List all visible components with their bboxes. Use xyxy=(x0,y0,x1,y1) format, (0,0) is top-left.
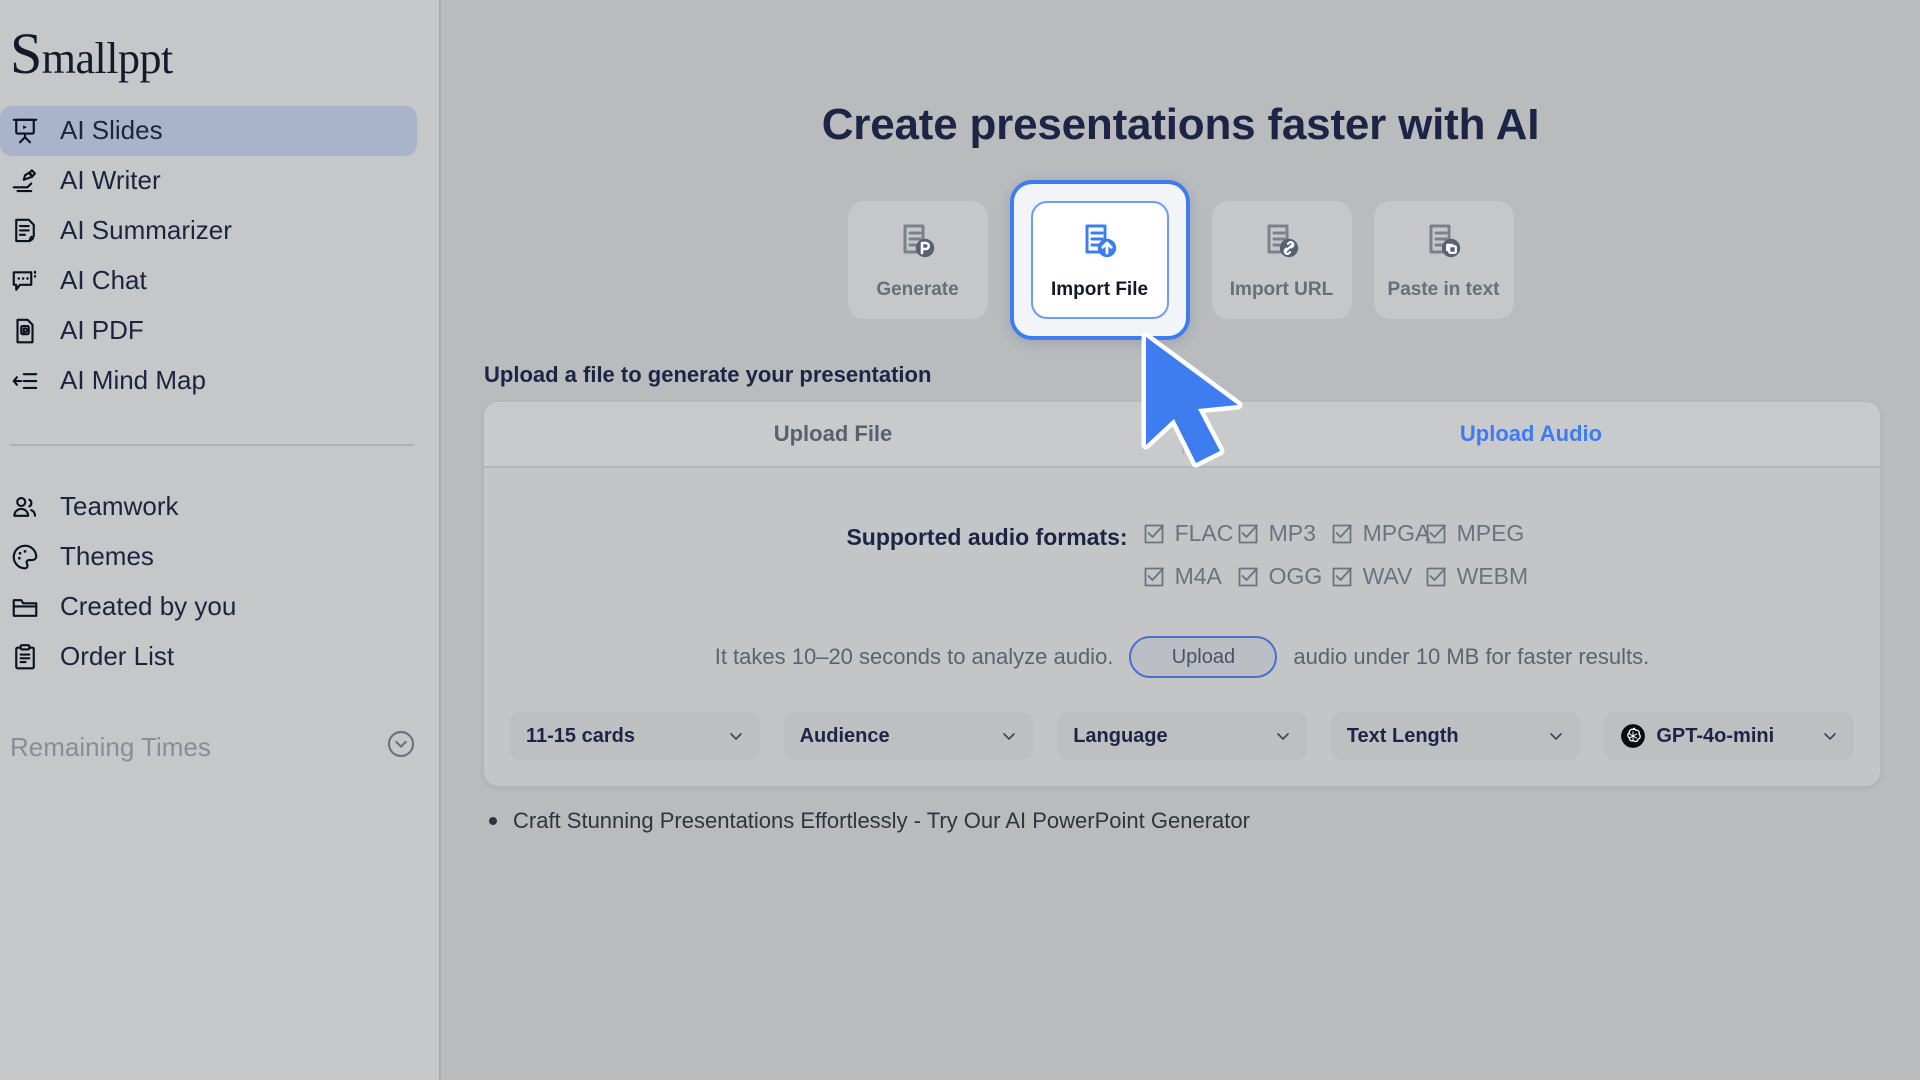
sidebar: Smallppt AI Slides xyxy=(0,0,441,1080)
upload-button[interactable]: Upload xyxy=(1129,636,1277,678)
doc-upload-icon xyxy=(1076,219,1124,267)
dropdown-value: 11-15 cards xyxy=(526,725,716,748)
tab-upload-audio[interactable]: Upload Audio xyxy=(1182,402,1880,466)
sidebar-item-label: Teamwork xyxy=(60,491,178,522)
sidebar-item-label: Order List xyxy=(60,641,174,672)
chevron-down-circle-icon[interactable] xyxy=(385,728,417,767)
footer-bullet-text[interactable]: Craft Stunning Presentations Effortlessl… xyxy=(513,808,1250,834)
brand-logo-rest: mallppt xyxy=(42,34,173,83)
format-item-mp3: MP3 xyxy=(1236,520,1330,547)
tab-label: Upload File xyxy=(774,421,893,447)
mode-card-label: Import File xyxy=(1051,279,1148,301)
mode-card-generate[interactable]: Generate xyxy=(848,201,988,319)
format-label: WEBM xyxy=(1457,563,1529,590)
doc-link-icon xyxy=(1258,219,1306,267)
mode-card-label: Import URL xyxy=(1230,279,1333,301)
supported-formats: Supported audio formats: FLAC xyxy=(484,520,1880,590)
sidebar-item-ai-chat[interactable]: AI Chat xyxy=(0,256,417,306)
upload-panel-body: Supported audio formats: FLAC xyxy=(484,468,1880,786)
document-edit-icon xyxy=(10,216,40,246)
sidebar-item-label: AI Chat xyxy=(60,265,147,296)
chevron-down-icon xyxy=(1273,726,1293,746)
checkbox-checked-icon xyxy=(1142,565,1166,589)
checkbox-checked-icon xyxy=(1236,522,1260,546)
app-root: Smallppt AI Slides xyxy=(0,0,1920,1080)
checkbox-checked-icon xyxy=(1424,565,1448,589)
sidebar-item-teamwork[interactable]: Teamwork xyxy=(0,482,417,532)
checkbox-checked-icon xyxy=(1330,522,1354,546)
supported-formats-grid: FLAC MP3 MPGA xyxy=(1142,520,1518,590)
chat-bubble-icon xyxy=(10,266,40,296)
footer-bullet-row: Craft Stunning Presentations Effortlessl… xyxy=(489,808,1920,834)
folder-icon xyxy=(10,592,40,622)
sidebar-secondary-nav: Teamwork Themes xyxy=(0,482,439,682)
dropdown-card-count[interactable]: 11-15 cards xyxy=(510,712,760,760)
upload-hint-prefix: It takes 10–20 seconds to analyze audio. xyxy=(715,644,1114,670)
sidebar-item-label: AI Slides xyxy=(60,115,163,146)
presentation-icon xyxy=(10,116,40,146)
supported-formats-label: Supported audio formats: xyxy=(846,520,1141,590)
format-label: OGG xyxy=(1269,563,1323,590)
page-title: Create presentations faster with AI xyxy=(441,100,1920,150)
dropdown-text-length[interactable]: Text Length xyxy=(1331,712,1581,760)
brand-logo[interactable]: Smallppt xyxy=(0,0,439,86)
doc-powerpoint-icon xyxy=(894,219,942,267)
pencil-write-icon xyxy=(10,166,40,196)
section-label: Upload a file to generate your presentat… xyxy=(484,362,1920,388)
format-label: M4A xyxy=(1175,563,1222,590)
format-item-mpeg: MPEG xyxy=(1424,520,1518,547)
sidebar-item-created-by-you[interactable]: Created by you xyxy=(0,582,417,632)
format-item-m4a: M4A xyxy=(1142,563,1222,590)
mode-card-paste-in-text[interactable]: Paste in text xyxy=(1374,201,1514,319)
tab-label: Upload Audio xyxy=(1460,421,1602,447)
format-item-ogg: OGG xyxy=(1236,563,1323,590)
mode-card-import-file[interactable]: Import File xyxy=(1031,201,1169,319)
sidebar-item-themes[interactable]: Themes xyxy=(0,532,417,582)
dropdown-model[interactable]: GPT-4o-mini xyxy=(1604,712,1854,760)
mode-card-import-url[interactable]: Import URL xyxy=(1212,201,1352,319)
mode-card-import-file-wrapper[interactable]: Import File xyxy=(1010,180,1190,340)
chevron-down-icon xyxy=(726,726,746,746)
sidebar-divider xyxy=(10,444,414,446)
format-label: MP3 xyxy=(1269,520,1316,547)
chevron-down-icon xyxy=(1546,726,1566,746)
main-content: Create presentations faster with AI Gene… xyxy=(441,0,1920,1080)
sidebar-item-label: Created by you xyxy=(60,591,236,622)
clipboard-icon xyxy=(10,642,40,672)
dropdown-value: GPT-4o-mini xyxy=(1656,725,1810,748)
pdf-file-icon xyxy=(10,316,40,346)
sidebar-item-label: AI PDF xyxy=(60,315,144,346)
upload-panel: Upload File Upload Audio Supported audio… xyxy=(484,402,1880,786)
users-icon xyxy=(10,492,40,522)
bullet-dot-icon xyxy=(489,817,497,825)
tab-upload-file[interactable]: Upload File xyxy=(484,402,1182,466)
upload-hint-row: It takes 10–20 seconds to analyze audio.… xyxy=(484,636,1880,678)
mode-card-row: Generate Import File xyxy=(441,180,1920,340)
format-item-webm: WEBM xyxy=(1424,563,1529,590)
sidebar-item-order-list[interactable]: Order List xyxy=(0,632,417,682)
checkbox-checked-icon xyxy=(1236,565,1260,589)
upload-hint-suffix: audio under 10 MB for faster results. xyxy=(1293,644,1649,670)
dropdown-value: Language xyxy=(1073,725,1263,748)
sidebar-primary-nav: AI Slides AI Writer xyxy=(0,106,439,406)
sidebar-item-ai-summarizer[interactable]: AI Summarizer xyxy=(0,206,417,256)
dropdown-language[interactable]: Language xyxy=(1057,712,1307,760)
remaining-times-row[interactable]: Remaining Times xyxy=(0,728,439,767)
palette-icon xyxy=(10,542,40,572)
format-item-flac: FLAC xyxy=(1142,520,1236,547)
format-label: WAV xyxy=(1363,563,1413,590)
mode-card-label: Paste in text xyxy=(1388,279,1500,301)
sidebar-item-label: Themes xyxy=(60,541,154,572)
sidebar-item-ai-pdf[interactable]: AI PDF xyxy=(0,306,417,356)
checkbox-checked-icon xyxy=(1142,522,1166,546)
openai-logo-icon xyxy=(1620,723,1646,749)
upload-tabs: Upload File Upload Audio xyxy=(484,402,1880,468)
sidebar-item-ai-slides[interactable]: AI Slides xyxy=(0,106,417,156)
format-label: FLAC xyxy=(1175,520,1234,547)
sidebar-item-ai-writer[interactable]: AI Writer xyxy=(0,156,417,206)
brand-logo-capital: S xyxy=(10,21,42,86)
sidebar-item-label: AI Mind Map xyxy=(60,365,206,396)
doc-copy-icon xyxy=(1420,219,1468,267)
mind-map-icon xyxy=(10,366,40,396)
remaining-times-label: Remaining Times xyxy=(10,732,211,763)
dropdown-value: Audience xyxy=(800,725,990,748)
format-item-mpga: MPGA xyxy=(1330,520,1424,547)
chevron-down-icon xyxy=(999,726,1019,746)
format-label: MPEG xyxy=(1457,520,1525,547)
dropdown-value: Text Length xyxy=(1347,725,1537,748)
options-dropdown-row: 11-15 cards Audience Language xyxy=(484,678,1880,786)
checkbox-checked-icon xyxy=(1424,522,1448,546)
format-label: MPGA xyxy=(1363,520,1431,547)
sidebar-item-ai-mind-map[interactable]: AI Mind Map xyxy=(0,356,417,406)
sidebar-item-label: AI Writer xyxy=(60,165,161,196)
chevron-down-icon xyxy=(1820,726,1840,746)
checkbox-checked-icon xyxy=(1330,565,1354,589)
dropdown-audience[interactable]: Audience xyxy=(784,712,1034,760)
format-item-wav: WAV xyxy=(1330,563,1413,590)
mode-card-label: Generate xyxy=(876,279,958,301)
sidebar-item-label: AI Summarizer xyxy=(60,215,232,246)
